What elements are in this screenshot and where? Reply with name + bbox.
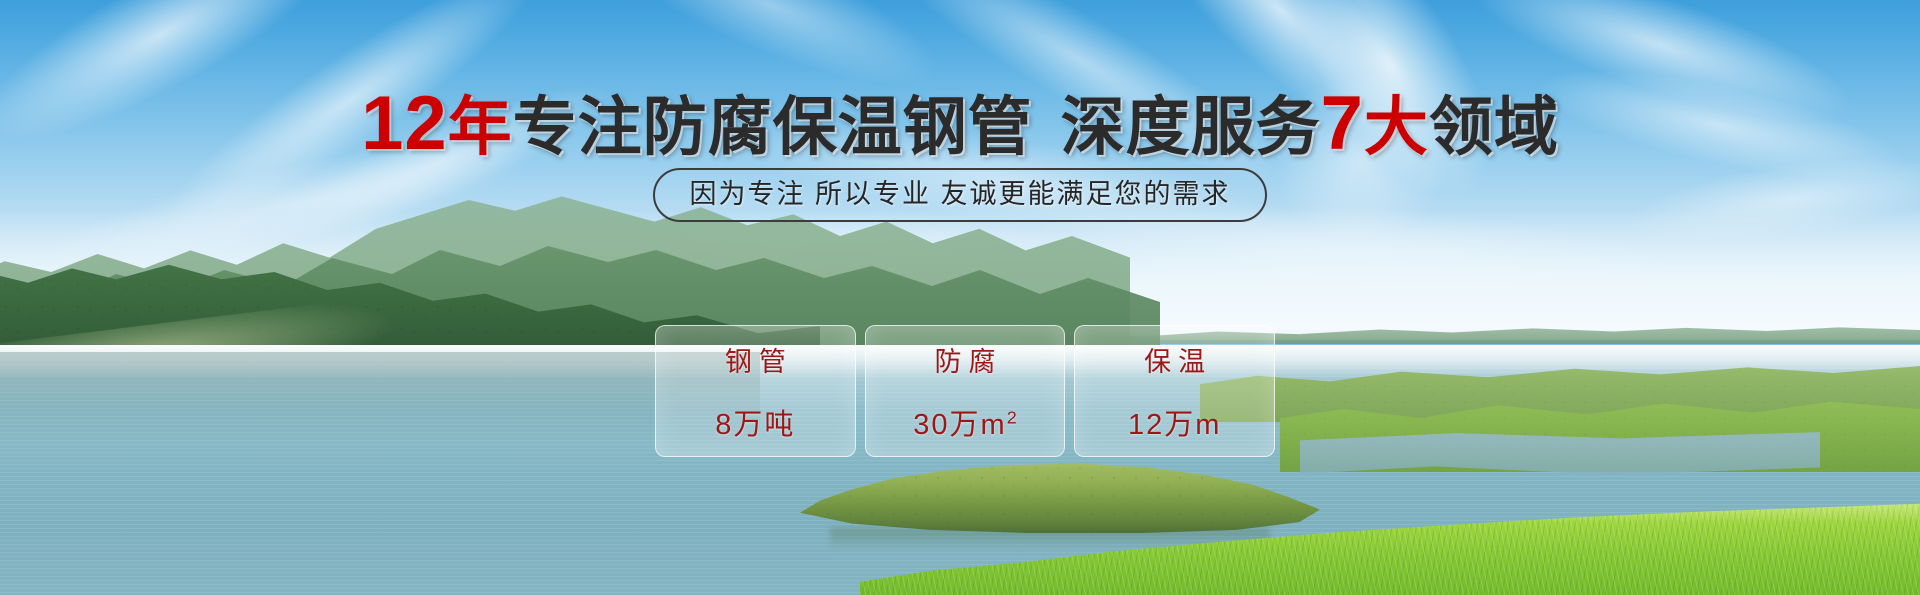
stat-card-value: 8万吨 [715,401,795,443]
subtitle-pill: 因为专注 所以专业 友诚更能满足您的需求 [653,168,1266,222]
stat-card: 防腐 30万m2 [865,325,1066,457]
stat-card-title: 防腐 [928,340,1003,379]
headline-years-number: 12 [361,81,448,166]
banner-content: 12年专注防腐保温钢管深度服务7大领域 因为专注 所以专业 友诚更能满足您的需求… [0,0,1920,595]
headline-part-b: 深度服务 [1061,91,1321,163]
headline-part-c: 领域 [1429,91,1559,163]
subtitle-container: 因为专注 所以专业 友诚更能满足您的需求 [0,168,1920,222]
stat-card-value-text: 8万吨 [715,409,795,441]
stat-card-list: 钢管 8万吨 防腐 30万m2 保温 12万m [655,325,1275,457]
stat-card-value: 12万m [1128,401,1221,443]
headline: 12年专注防腐保温钢管深度服务7大领域 [0,86,1920,162]
headline-years-unit: 年 [448,91,513,163]
headline-part-a: 专注防腐保温钢管 [513,91,1033,163]
headline-highlight-unit: 大 [1364,91,1429,163]
stat-card-value-text: 30万m [913,409,1006,441]
stat-card: 保温 12万m [1074,325,1275,457]
stat-card-value-superscript: 2 [1007,407,1017,427]
stat-card-value-text: 12万m [1128,409,1221,441]
hero-banner: 12年专注防腐保温钢管深度服务7大领域 因为专注 所以专业 友诚更能满足您的需求… [0,0,1920,595]
stat-card: 钢管 8万吨 [655,325,856,457]
stat-card-title: 保温 [1137,340,1212,379]
stat-card-title: 钢管 [718,340,793,379]
headline-highlight-number: 7 [1321,81,1364,166]
stat-card-value: 30万m2 [913,401,1016,443]
